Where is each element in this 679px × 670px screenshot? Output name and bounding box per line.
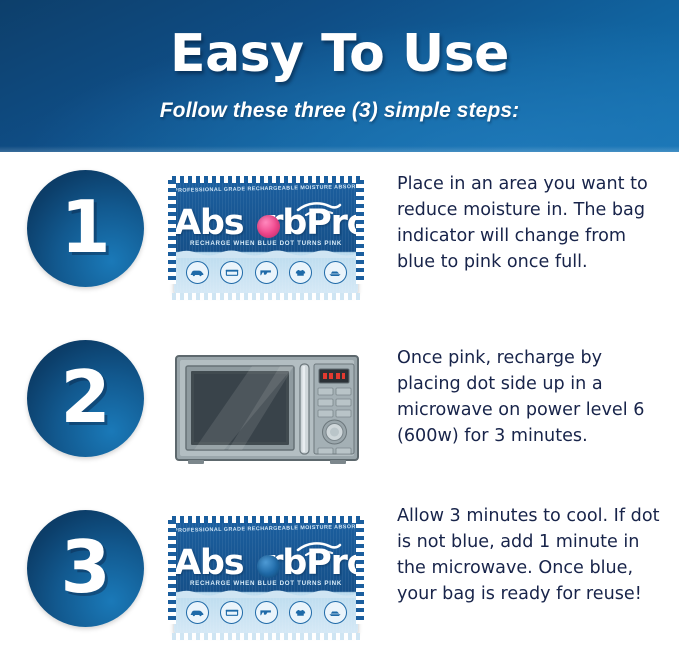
bag-wave-divider — [174, 248, 358, 258]
bag-bottom-banner-1: RECHARGE WHEN BLUE DOT TURNS PINK — [174, 240, 358, 247]
bag-edge-bottom — [172, 633, 360, 640]
handgun-icon — [255, 601, 278, 624]
page-title: Easy To Use — [0, 28, 679, 80]
microwave-icon — [172, 344, 362, 470]
handgun-icon — [255, 261, 278, 284]
step-row-3: 3 PROFESSIONAL GRADE RECHARGEABLE MOISTU… — [0, 500, 679, 670]
bag-edge-bottom — [172, 293, 360, 300]
absorbpro-bag-3: PROFESSIONAL GRADE RECHARGEABLE MOISTURE… — [174, 522, 358, 634]
storage-box-icon — [220, 601, 243, 624]
bag-edge-left — [168, 180, 176, 284]
car-icon — [186, 261, 209, 284]
step-number-3: 3 — [27, 510, 144, 627]
moisture-indicator-dot-1 — [257, 215, 280, 238]
shirt-icon — [289, 261, 312, 284]
header-banner: Easy To Use Follow these three (3) simpl… — [0, 0, 679, 152]
brand-part-after: rbPro — [266, 543, 358, 583]
moisture-indicator-dot-3 — [257, 555, 280, 578]
bag-edge-right — [356, 180, 364, 284]
product-bag-image-1: PROFESSIONAL GRADE RECHARGEABLE MOISTURE… — [168, 176, 364, 300]
bag-edge-right — [356, 520, 364, 624]
bag-top-banner-3: PROFESSIONAL GRADE RECHARGEABLE MOISTURE… — [174, 524, 358, 534]
step-number-badge-1: 1 — [27, 170, 144, 287]
bag-edge-top — [172, 516, 360, 523]
step-description-3: Allow 3 minutes to cool. If dot is not b… — [397, 504, 669, 607]
car-icon — [186, 601, 209, 624]
page-subtitle: Follow these three (3) simple steps: — [0, 99, 679, 123]
bag-edge-left — [168, 520, 176, 624]
brand-part-before: Abs — [174, 543, 243, 583]
product-bag-image-3: PROFESSIONAL GRADE RECHARGEABLE MOISTURE… — [168, 516, 364, 640]
bag-usage-icons-3 — [174, 601, 358, 624]
bag-top-banner-1: PROFESSIONAL GRADE RECHARGEABLE MOISTURE… — [174, 184, 358, 194]
absorbpro-bag-1: PROFESSIONAL GRADE RECHARGEABLE MOISTURE… — [174, 182, 358, 294]
step-row-2: 2 — [0, 330, 679, 500]
bag-wave-divider — [174, 588, 358, 598]
step-description-2: Once pink, recharge by placing dot side … — [397, 346, 669, 449]
bag-bottom-banner-3: RECHARGE WHEN BLUE DOT TURNS PINK — [174, 580, 358, 587]
brand-part-before: Abs — [174, 203, 243, 243]
brand-part-after: rbPro — [266, 203, 358, 243]
step-row-1: 1 PROFESSIONAL GRADE RECHARGEABLE MOISTU… — [0, 160, 679, 330]
step-number-badge-3: 3 — [27, 510, 144, 627]
storage-box-icon — [220, 261, 243, 284]
microwave-image — [172, 344, 362, 470]
step-description-1: Place in an area you want to reduce mois… — [397, 172, 669, 275]
step-number-1: 1 — [27, 170, 144, 287]
bag-usage-icons-1 — [174, 261, 358, 284]
shirt-icon — [289, 601, 312, 624]
boat-icon — [324, 601, 347, 624]
step-number-badge-2: 2 — [27, 340, 144, 457]
step-number-2: 2 — [27, 340, 144, 457]
boat-icon — [324, 261, 347, 284]
bag-edge-top — [172, 176, 360, 183]
